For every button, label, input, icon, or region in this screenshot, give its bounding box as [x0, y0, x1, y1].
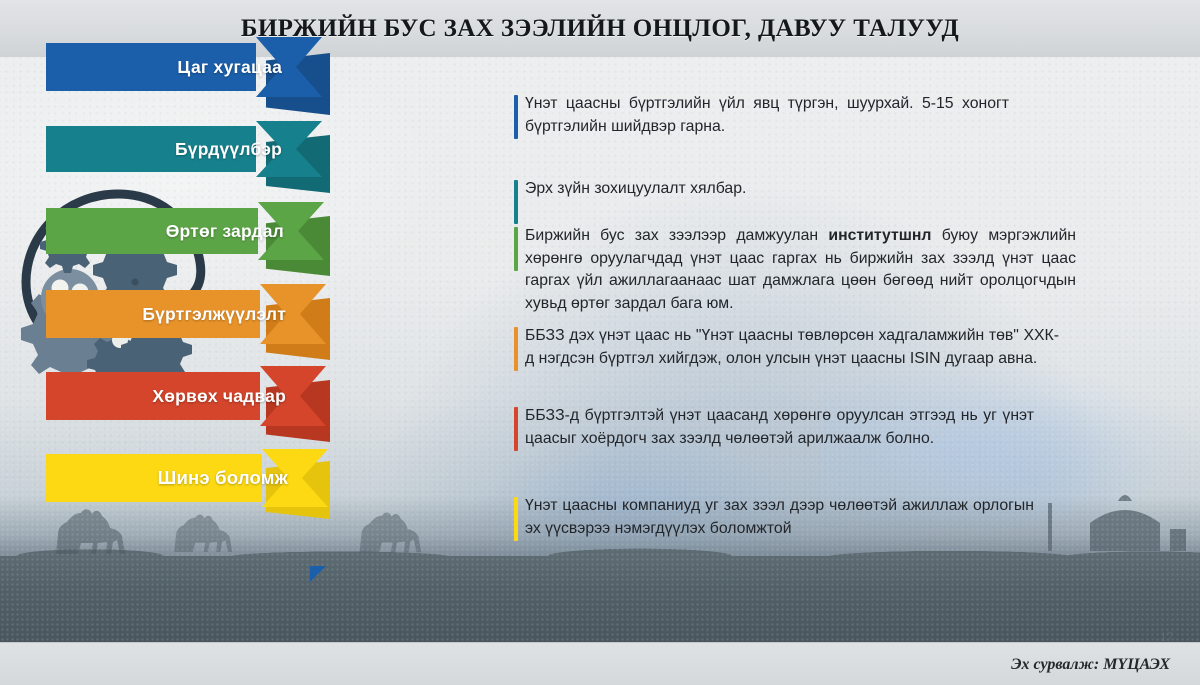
- feature-description-text: Биржийн бус зах зээлээр дамжуулан инстит…: [525, 227, 1076, 312]
- feature-description-text: ББЗЗ-д бүртгэлтэй үнэт цаасанд хөрөнгө о…: [525, 407, 1034, 447]
- feature-description-text: Үнэт цаасны компаниуд уг зах зээл дээр ч…: [525, 497, 1034, 537]
- ribbon-label-container[interactable]: Цаг хугацаа: [46, 43, 286, 91]
- ribbon-label: Шинэ боломж: [158, 467, 288, 489]
- accent-bar: [514, 407, 518, 451]
- accent-bar: [514, 180, 518, 224]
- feature-description-text: Эрх зүйн зохицуулалт хялбар.: [525, 180, 746, 197]
- feature-description: Эрх зүйн зохицуулалт хялбар.: [514, 178, 1009, 201]
- ribbon-label-container[interactable]: Бүрдүүлбэр: [46, 126, 286, 172]
- feature-description-text: ББЗЗ дэх үнэт цаас нь "Үнэт цаасны төвлө…: [525, 327, 1059, 367]
- feature-description: Биржийн бус зах зээлээр дамжуулан инстит…: [514, 225, 1076, 315]
- ribbon-label: Өртөг зардал: [166, 221, 284, 242]
- feature-description-text: Үнэт цаасны бүртгэлийн үйл явц түргэн, ш…: [525, 95, 1009, 135]
- ribbon-label: Хөрвөх чадвар: [152, 386, 286, 407]
- feature-description: ББЗЗ дэх үнэт цаас нь "Үнэт цаасны төвлө…: [514, 325, 1059, 370]
- accent-bar: [514, 497, 518, 541]
- ribbon-label-container[interactable]: Шинэ боломж: [46, 454, 292, 502]
- feature-description: Үнэт цаасны бүртгэлийн үйл явц түргэн, ш…: [514, 93, 1009, 138]
- ribbon-label: Бүртгэлжүүлэлт: [142, 304, 286, 325]
- ribbon-label: Цаг хугацаа: [177, 57, 282, 78]
- slide-footer: Эх сурвалж: МҮЦАЭХ: [0, 642, 1200, 685]
- ribbon-label-container[interactable]: Хөрвөх чадвар: [46, 372, 290, 420]
- accent-bar: [514, 95, 518, 139]
- ribbon-label-container[interactable]: Бүртгэлжүүлэлт: [46, 290, 290, 338]
- accent-bar: [514, 327, 518, 371]
- accent-bar: [514, 227, 518, 271]
- ribbon-label-container[interactable]: Өртөг зардал: [46, 208, 288, 254]
- page-number: 17: [1160, 629, 1173, 642]
- feature-description: Үнэт цаасны компаниуд уг зах зээл дээр ч…: [514, 495, 1034, 540]
- ribbon-label: Бүрдүүлбэр: [175, 139, 282, 160]
- feature-description: ББЗЗ-д бүртгэлтэй үнэт цаасанд хөрөнгө о…: [514, 405, 1034, 450]
- blue-triangle-accent: [310, 566, 326, 582]
- source-label: Эх сурвалж: МҮЦАЭХ: [1011, 656, 1170, 674]
- slide-root: БИРЖИЙН БУС ЗАХ ЗЭЭЛИЙН ОНЦЛОГ, ДАВУУ ТА…: [0, 0, 1200, 685]
